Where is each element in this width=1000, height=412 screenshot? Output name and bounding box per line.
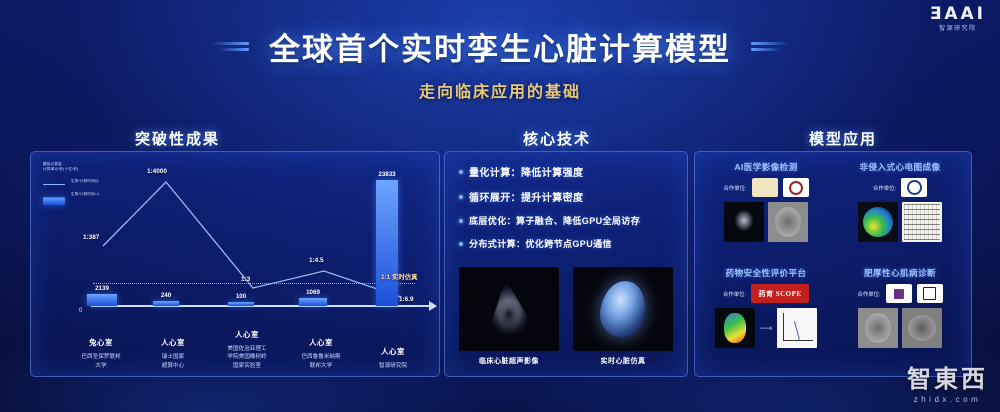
core-tech-bullet-list: 量化计算：降低计算强度 循环展开：提升计算密度 底层优化：算子融合、降低GPU全… [459, 164, 679, 260]
application-2-title: 非侵入式心电图成像 [860, 161, 941, 173]
bar-5: 23833 [376, 180, 398, 306]
cardiac-map-thumbnail [858, 202, 898, 242]
application-2-thumbnails [858, 202, 942, 242]
title-decoration-left-icon [193, 39, 249, 55]
ecg-trace-thumbnail [902, 202, 942, 242]
bullet-dot-icon [459, 242, 463, 246]
application-3-partner-label: 合作单位: [723, 290, 746, 298]
core-tech-bullet-3-text: 底层优化：算子融合、降低GPU全局访存 [469, 214, 640, 227]
application-3-thumbnails: ⟶ [715, 308, 818, 348]
application-3-title: 药物安全性评价平台 [726, 267, 807, 279]
legend-label-bar: 模拟计算量 计算单元/秒(十亿/秒) [43, 162, 79, 172]
bar-1: 2139 [87, 294, 117, 306]
x-category-5-organ: 人心室 [345, 346, 441, 357]
page-subtitle: 走向临床应用的基础 [0, 78, 1000, 102]
core-tech-bullet-3: 底层优化：算子融合、降低GPU全局访存 [459, 214, 679, 227]
heart-model-thumbnail [715, 308, 755, 348]
application-4-partner-label: 合作单位: [857, 290, 880, 298]
application-4-thumbnails [858, 308, 942, 348]
chart-plot-area: 0 2139 240 100 1069 [81, 164, 429, 306]
watermark-en: zhidx.com [907, 395, 988, 404]
section-title-applications: 模型应用 [809, 128, 877, 149]
application-4-partners: 合作单位: [857, 284, 942, 303]
core-tech-image-2-caption: 实时心脏仿真 [573, 356, 673, 366]
application-2-partners: 合作单位: [873, 178, 927, 197]
ratio-label-3: 1:3 [241, 276, 250, 283]
ratio-label-5: 1:6.9 [399, 296, 414, 303]
application-1-partner-label: 合作单位: [723, 184, 746, 192]
bar-value-3: 100 [236, 293, 246, 300]
applications-grid: AI医学影像检测 合作单位: 非侵入式心电图成像 合作单位: [704, 161, 962, 367]
ratio-label-2: 1:4000 [147, 168, 167, 175]
section-title-core-tech: 核心技术 [523, 128, 591, 149]
core-tech-bullet-2: 循环展开：提升计算密度 [459, 189, 679, 204]
partner-hospital-icon [886, 284, 912, 303]
bullet-dot-icon [459, 170, 463, 174]
legend-swatch-bar-icon [43, 198, 65, 205]
angiography-thumbnail [768, 202, 808, 242]
application-1-thumbnails [724, 202, 808, 242]
heart-simulation-thumbnail [573, 267, 673, 351]
bar-value-1: 2139 [95, 285, 109, 292]
line-ratio-series [103, 182, 401, 297]
bar-2: 240 [153, 301, 179, 306]
bar-value-2: 240 [161, 292, 171, 299]
bar-value-4: 1069 [306, 289, 320, 296]
ratio-label-1: 1:387 [83, 234, 99, 241]
bullet-dot-icon [459, 195, 463, 199]
bar-value-5: 23833 [378, 171, 395, 178]
applications-panel: AI医学影像检测 合作单位: 非侵入式心电图成像 合作单位: [694, 151, 972, 377]
application-4-title: 肥厚性心肌病诊断 [864, 267, 936, 279]
application-drug-safety: 药物安全性评价平台 合作单位: 药育 SCOPE ⟶ [704, 267, 828, 367]
x-category-5-org: 智源研究院 [345, 362, 441, 370]
core-tech-bullet-4: 分布式计算：优化跨节点GPU通信 [459, 237, 679, 250]
partner-university-icon [901, 178, 927, 197]
chart-axis-origin: 0 [79, 308, 82, 314]
core-tech-bullet-1-text: 量化计算：降低计算强度 [469, 164, 583, 179]
bar-3: 100 [228, 302, 254, 306]
bar-4: 1069 [299, 298, 327, 306]
x-category-5: 人心室 智源研究院 [345, 346, 441, 370]
ultrasound-thumbnail [724, 202, 764, 242]
partner-scope-logo: 药育 SCOPE [751, 284, 809, 303]
title-decoration-right-icon [751, 39, 807, 55]
page-title-text: 全球首个实时孪生心脏计算模型 [269, 32, 731, 67]
core-tech-bullet-1: 量化计算：降低计算强度 [459, 164, 679, 179]
core-tech-image-2: 实时心脏仿真 [573, 267, 673, 366]
echocardiogram-thumbnail [459, 267, 559, 351]
partner-institute-icon [917, 284, 943, 303]
core-tech-image-1: 临床心脏超声影像 [459, 267, 559, 366]
core-tech-panel: 量化计算：降低计算强度 循环展开：提升计算密度 底层优化：算子融合、降低GPU全… [444, 151, 688, 377]
application-2-partner-label: 合作单位: [873, 184, 896, 192]
application-hcm-diagnosis: 肥厚性心肌病诊断 合作单位: [838, 267, 962, 367]
watermark: 智東西 zhidx.com [907, 359, 988, 404]
application-1-partners: 合作单位: [723, 178, 808, 197]
core-tech-bullet-4-text: 分布式计算：优化跨节点GPU通信 [469, 237, 612, 250]
core-tech-bullet-2-text: 循环展开：提升计算密度 [469, 189, 583, 204]
arrow-right-icon: ⟶ [760, 323, 773, 334]
drug-response-plot-thumbnail [777, 308, 817, 348]
partner-seal-icon [783, 178, 809, 197]
application-3-partners: 合作单位: 药育 SCOPE [723, 284, 809, 303]
cardiac-ct-thumbnail [858, 308, 898, 348]
core-tech-image-row: 临床心脏超声影像 实时心脏仿真 [459, 267, 673, 366]
application-ecg-imaging: 非侵入式心电图成像 合作单位: [838, 161, 962, 261]
legend-swatch-line1-icon [43, 184, 65, 185]
page-title: 全球首个实时孪生心脏计算模型 [269, 24, 731, 69]
bullet-dot-icon [459, 219, 463, 223]
baai-logo-mark: ƎAAI [930, 6, 986, 23]
breakthrough-chart: 模拟计算量 计算单元/秒(十亿/秒) 生物/计算时间比 生物/计算时间=1 0 [31, 152, 439, 376]
core-tech-image-1-caption: 临床心脏超声影像 [459, 356, 559, 366]
cardiac-ct-thumbnail-2 [902, 308, 942, 348]
breakthrough-panel: 模拟计算量 计算单元/秒(十亿/秒) 生物/计算时间比 生物/计算时间=1 0 [30, 151, 440, 377]
partner-certificate-icon [752, 178, 778, 197]
annotation-realtime: 1:1 实时仿真 [381, 272, 418, 281]
slide-canvas: ƎAAI 智源研究院 全球首个实时孪生心脏计算模型 走向临床应用的基础 突破性成… [0, 0, 1000, 412]
section-title-breakthrough: 突破性成果 [135, 128, 220, 149]
title-block: 全球首个实时孪生心脏计算模型 走向临床应用的基础 [0, 24, 1000, 102]
watermark-cn: 智東西 [907, 359, 988, 394]
ratio-label-4: 1:4.5 [309, 257, 324, 264]
application-ai-imaging: AI医学影像检测 合作单位: [704, 161, 828, 261]
application-1-title: AI医学影像检测 [734, 161, 797, 173]
